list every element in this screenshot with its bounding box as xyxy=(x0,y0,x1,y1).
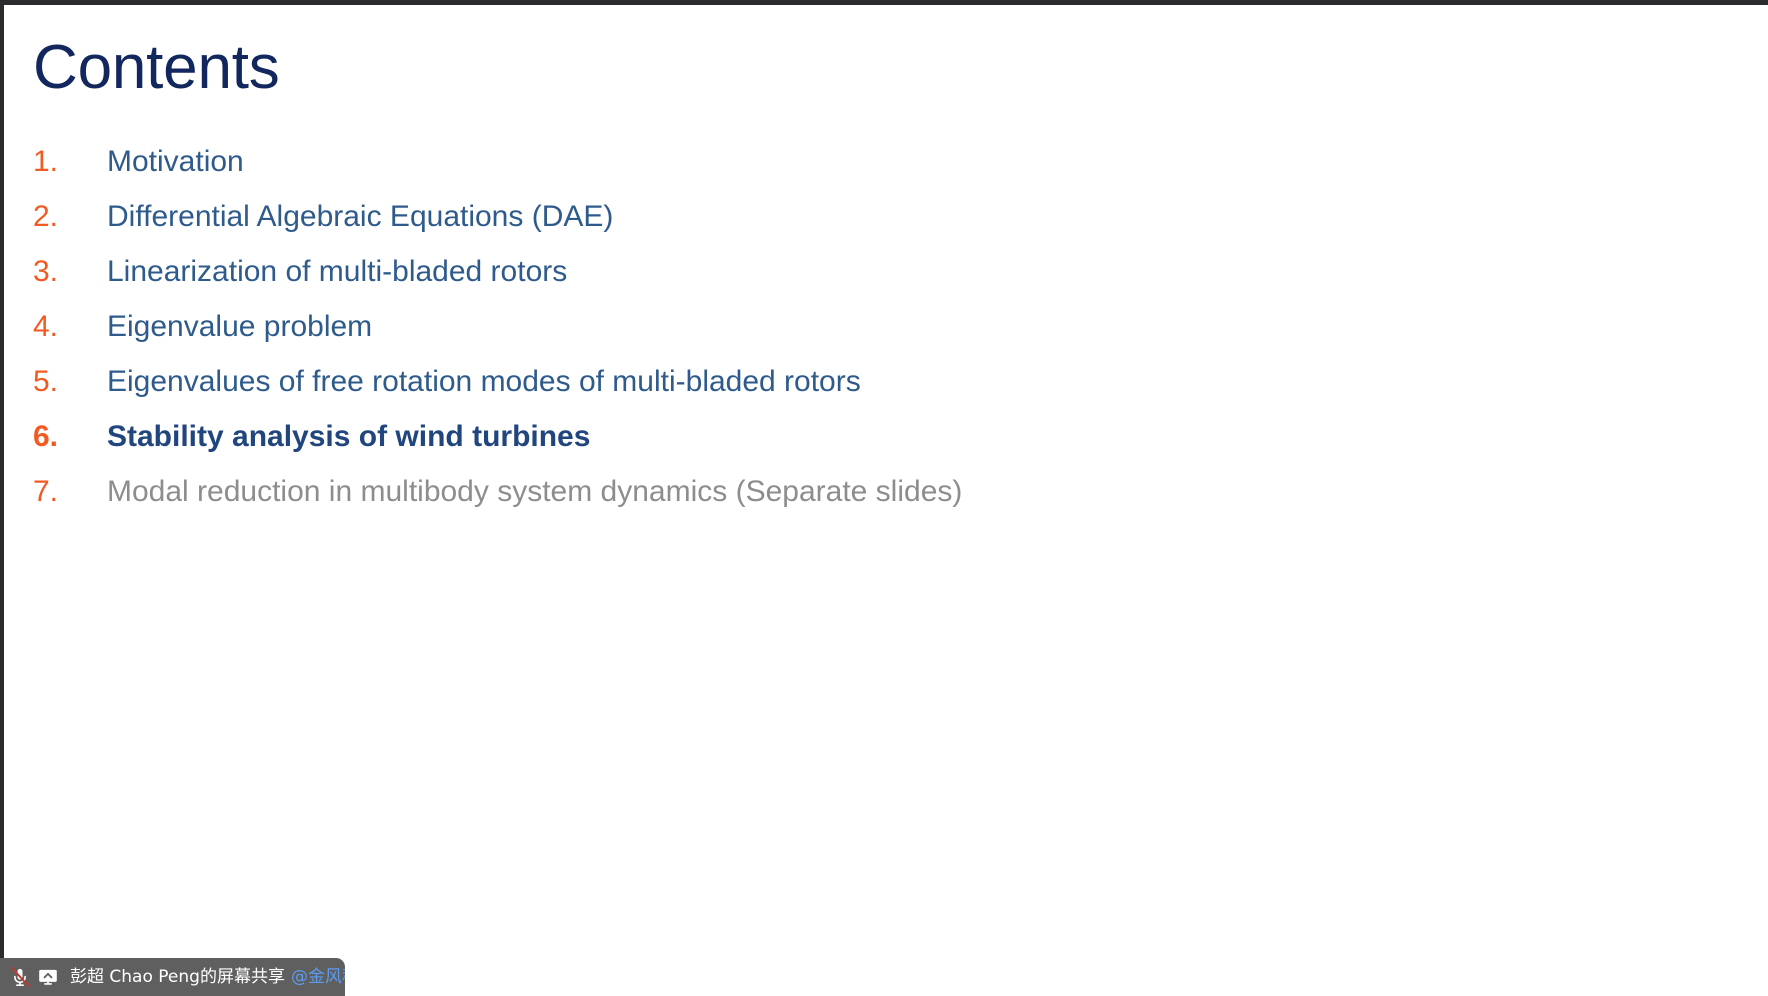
list-item-label: Stability analysis of wind turbines xyxy=(107,422,590,452)
list-item[interactable]: 3. Linearization of multi-bladed rotors xyxy=(33,257,1633,312)
list-item-label: Linearization of multi-bladed rotors xyxy=(107,257,567,287)
list-item-number: 2. xyxy=(33,202,107,232)
list-item-active[interactable]: 6. Stability analysis of wind turbines xyxy=(33,422,1633,477)
list-item-number: 4. xyxy=(33,312,107,342)
list-item[interactable]: 1. Motivation xyxy=(33,147,1633,202)
list-item-label: Motivation xyxy=(107,147,244,177)
list-item-number: 1. xyxy=(33,147,107,177)
screen-share-organization: @金风科技 xyxy=(291,969,345,986)
screen-share-icon[interactable] xyxy=(35,964,61,990)
list-item-label: Eigenvalues of free rotation modes of mu… xyxy=(107,367,861,397)
list-item[interactable]: 7. Modal reduction in multibody system d… xyxy=(33,477,1633,532)
screen-share-status-bar[interactable]: 彭超 Chao Peng的屏幕共享 @金风科技 xyxy=(0,958,345,996)
agenda-list: 1. Motivation 2. Differential Algebraic … xyxy=(33,147,1633,532)
list-item-number: 6. xyxy=(33,422,107,452)
list-item[interactable]: 4. Eigenvalue problem xyxy=(33,312,1633,367)
screen-share-title: 彭超 Chao Peng的屏幕共享 xyxy=(70,969,285,986)
list-item-label: Eigenvalue problem xyxy=(107,312,372,342)
list-item[interactable]: 2. Differential Algebraic Equations (DAE… xyxy=(33,202,1633,257)
list-item-number: 3. xyxy=(33,257,107,287)
presentation-slide: Contents 1. Motivation 2. Differential A… xyxy=(4,5,1768,996)
list-item-label: Differential Algebraic Equations (DAE) xyxy=(107,202,613,232)
page-title: Contents xyxy=(33,37,280,99)
shared-screen-frame: Contents 1. Motivation 2. Differential A… xyxy=(0,0,1768,996)
list-item-label: Modal reduction in multibody system dyna… xyxy=(107,477,962,507)
list-item-number: 7. xyxy=(33,477,107,507)
list-item[interactable]: 5. Eigenvalues of free rotation modes of… xyxy=(33,367,1633,422)
list-item-number: 5. xyxy=(33,367,107,397)
microphone-muted-icon[interactable] xyxy=(7,964,33,990)
